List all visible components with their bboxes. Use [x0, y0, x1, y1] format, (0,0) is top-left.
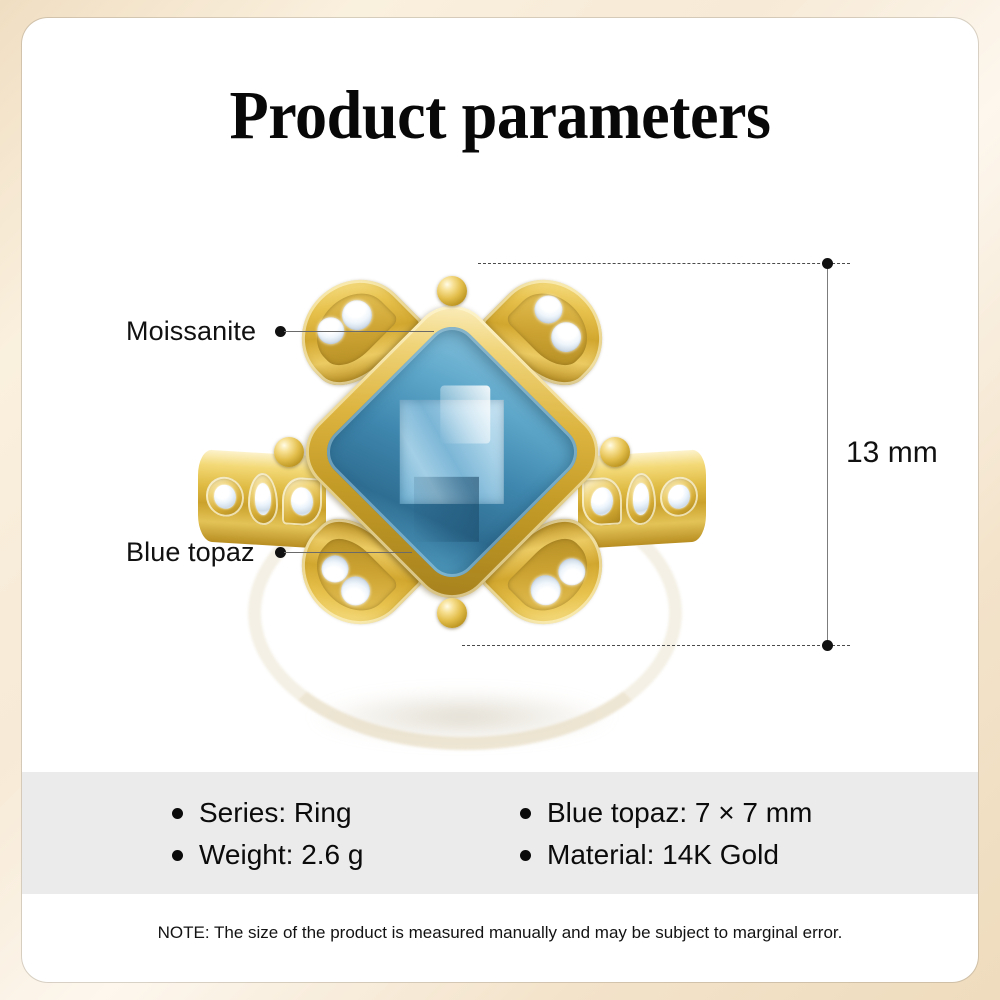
- gold-bead-west: [274, 437, 304, 467]
- note-text: NOTE: The size of the product is measure…: [22, 923, 978, 943]
- product-image-stage: Moissanite Blue topaz 13 mm: [22, 168, 978, 768]
- spec-column-left: Series: Ring Weight: 2.6 g: [172, 792, 363, 876]
- spec-item-material: Material: 14K Gold: [520, 834, 812, 876]
- shoulder-stone: [248, 472, 278, 526]
- dimension-guide-top: [478, 263, 850, 264]
- spec-text: Material: 14K Gold: [547, 839, 779, 871]
- gold-bead-south: [437, 598, 467, 628]
- dimension-axis: [827, 263, 828, 645]
- dimension-value: 13 mm: [846, 436, 938, 470]
- spec-text: Series: Ring: [199, 797, 352, 829]
- spec-column-right: Blue topaz: 7 × 7 mm Material: 14K Gold: [520, 792, 812, 876]
- dimension-guide-bottom: [462, 645, 850, 646]
- annotation-label-blue-topaz: Blue topaz: [126, 537, 255, 568]
- bullet-icon: [172, 808, 183, 819]
- leader-line-moissanite: [284, 331, 434, 332]
- shoulder-stone: [660, 476, 698, 518]
- dimension-endpoint-top-icon: [822, 258, 833, 269]
- leader-line-blue-topaz: [284, 552, 412, 553]
- product-card: Product parameters: [22, 18, 978, 982]
- annotation-label-moissanite: Moissanite: [126, 316, 256, 347]
- spec-item-weight: Weight: 2.6 g: [172, 834, 363, 876]
- spec-text: Blue topaz: 7 × 7 mm: [547, 797, 812, 829]
- spec-item-blue-topaz: Blue topaz: 7 × 7 mm: [520, 792, 812, 834]
- specification-band: Series: Ring Weight: 2.6 g Blue topaz: 7…: [22, 772, 978, 894]
- spec-text: Weight: 2.6 g: [199, 839, 363, 871]
- ring-illustration: [192, 238, 712, 758]
- bullet-icon: [172, 850, 183, 861]
- gold-bead-north: [437, 276, 467, 306]
- spec-item-series: Series: Ring: [172, 792, 363, 834]
- bullet-icon: [520, 850, 531, 861]
- gold-bead-east: [600, 437, 630, 467]
- bullet-icon: [520, 808, 531, 819]
- dimension-endpoint-bottom-icon: [822, 640, 833, 651]
- page-title: Product parameters: [55, 76, 944, 155]
- outer-frame: Product parameters: [0, 0, 1000, 1000]
- shoulder-stone: [206, 476, 244, 518]
- shoulder-stone: [626, 472, 656, 526]
